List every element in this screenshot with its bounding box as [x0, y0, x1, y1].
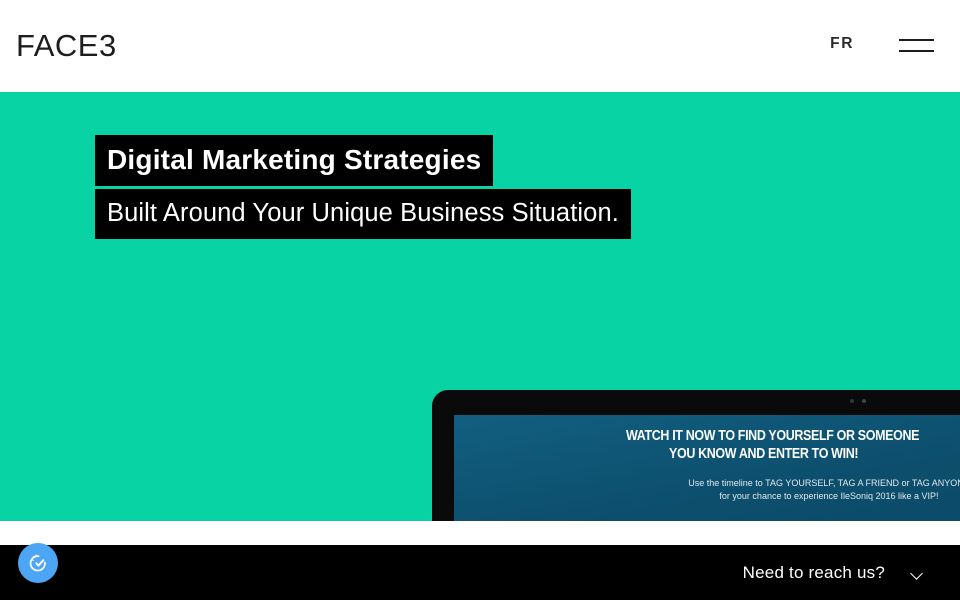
hero-headline-primary: Digital Marketing Strategies [95, 135, 493, 186]
site-header: FACE3 FR [0, 0, 960, 92]
brand-logo[interactable]: FACE3 [16, 28, 117, 64]
laptop-camera-dot [850, 399, 854, 403]
screen-subtext-line-1: Use the timeline to TAG YOURSELF, TAG A … [688, 478, 960, 488]
hero-section: WATCH IT NOW TO FIND YOURSELF OR SOMEONE… [0, 92, 960, 521]
language-switch-fr[interactable]: FR [830, 35, 854, 53]
screen-headline: WATCH IT NOW TO FIND YOURSELF OR SOMEONE… [454, 427, 901, 463]
bottom-contact-bar: Need to reach us? [0, 545, 960, 600]
hamburger-bar-top [899, 39, 934, 41]
chevron-down-icon[interactable] [911, 569, 924, 577]
screen-subtext: Use the timeline to TAG YOURSELF, TAG A … [454, 477, 960, 503]
reach-us-toggle[interactable]: Need to reach us? [743, 545, 924, 600]
screen-headline-line-2: YOU KNOW AND ENTER TO WIN! [626, 445, 901, 463]
laptop-device: WATCH IT NOW TO FIND YOURSELF OR SOMEONE… [432, 390, 960, 521]
screen-subtext-line-2: for your chance to experience IleSoniq 2… [684, 490, 960, 503]
laptop-screen: WATCH IT NOW TO FIND YOURSELF OR SOMEONE… [454, 415, 960, 521]
reach-us-label: Need to reach us? [743, 563, 885, 583]
hamburger-menu-icon[interactable] [899, 33, 934, 55]
cookie-consent-icon[interactable] [18, 543, 58, 583]
hero-headline-block: Digital Marketing Strategies Built Aroun… [95, 135, 815, 239]
hero-headline-secondary: Built Around Your Unique Business Situat… [95, 189, 631, 239]
section-white-gap [0, 521, 960, 545]
hamburger-bar-bottom [899, 50, 934, 52]
page-root: FACE3 FR WATCH IT NOW TO FIND YOURSELF O… [0, 0, 960, 600]
screen-headline-line-1: WATCH IT NOW TO FIND YOURSELF OR SOMEONE [626, 428, 919, 444]
laptop-sensor-dot [862, 399, 866, 403]
